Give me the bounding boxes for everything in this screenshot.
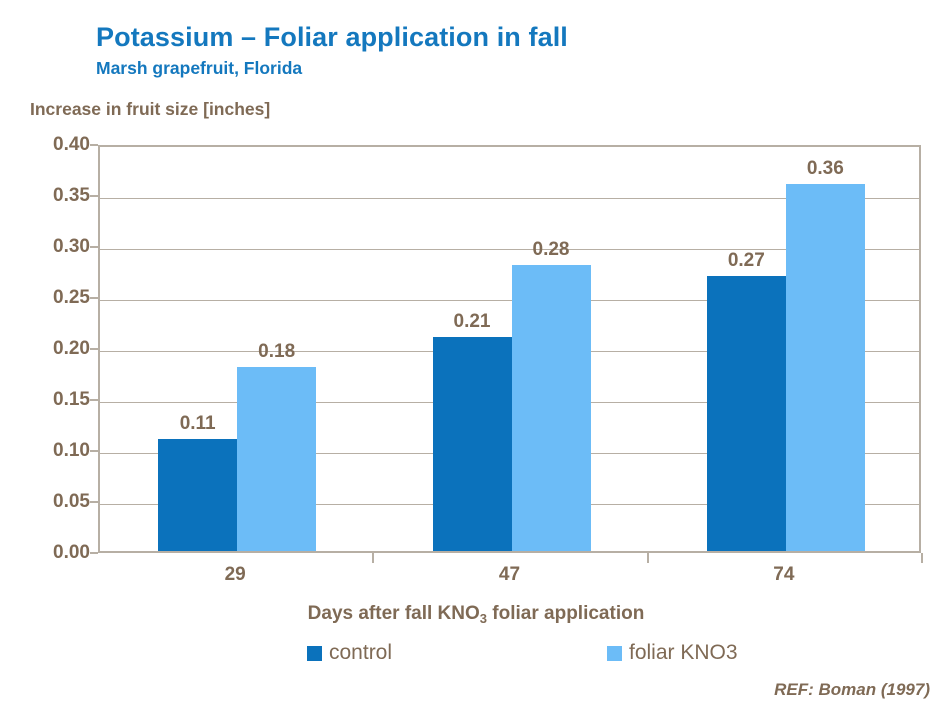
bar-value-label: 0.18 [258, 341, 295, 363]
reference-citation: REF: Boman (1997) [774, 680, 930, 700]
bar-control-74[interactable] [707, 276, 786, 551]
y-axis-tick-label: 0.05 [28, 491, 90, 513]
x-axis-tick-mark [372, 553, 374, 563]
y-axis-tick-mark [90, 195, 98, 197]
legend-label-foliar: foliar KNO3 [629, 641, 738, 665]
x-axis-tick-mark [921, 553, 923, 563]
y-axis-tick-mark [90, 297, 98, 299]
x-axis-title-after: foliar application [487, 603, 644, 624]
y-axis-tick-labels: 0.400.350.300.250.200.150.100.050.00 [22, 145, 90, 553]
legend-item-control[interactable]: control [307, 641, 392, 665]
x-axis-category-label: 47 [499, 564, 520, 586]
chart-container: Potassium – Foliar application in fall M… [0, 0, 952, 713]
y-axis-tick-mark [90, 450, 98, 452]
bar-value-label: 0.11 [180, 413, 216, 435]
y-axis-tick-mark [90, 501, 98, 503]
bar-value-label: 0.36 [807, 158, 844, 180]
legend-item-foliar[interactable]: foliar KNO3 [607, 641, 738, 665]
x-axis-tick-mark [647, 553, 649, 563]
y-axis-tick-label: 0.25 [28, 287, 90, 309]
y-axis-tick-label: 0.40 [28, 134, 90, 156]
y-axis-title: Increase in fruit size [inches] [30, 99, 270, 120]
y-axis-tick-label: 0.00 [28, 542, 90, 564]
bar-value-label: 0.27 [728, 250, 765, 272]
plot-area: 0.110.180.210.280.270.36 [98, 145, 921, 553]
chart-subtitle: Marsh grapefruit, Florida [96, 58, 302, 79]
x-axis-category-label: 74 [773, 564, 794, 586]
x-axis-title-subscript: 3 [480, 611, 487, 626]
bar-control-47[interactable] [433, 337, 512, 551]
chart-legend: control foliar KNO3 [0, 641, 952, 669]
bar-foliar-kno3-74[interactable] [786, 184, 865, 551]
bar-foliar-kno3-47[interactable] [512, 265, 591, 551]
y-axis-tick-label: 0.20 [28, 338, 90, 360]
y-axis-tick-label: 0.10 [28, 440, 90, 462]
legend-swatch-foliar-icon [607, 646, 622, 661]
y-axis-tick-mark [90, 552, 98, 554]
legend-swatch-control-icon [307, 646, 322, 661]
bar-value-label: 0.21 [454, 311, 491, 333]
bar-value-label: 0.28 [533, 239, 570, 261]
bar-foliar-kno3-29[interactable] [237, 367, 316, 551]
y-axis-tick-label: 0.15 [28, 389, 90, 411]
x-axis-category-label: 29 [225, 564, 246, 586]
y-axis-tick-label: 0.35 [28, 185, 90, 207]
y-axis-tick-mark [90, 144, 98, 146]
y-axis-tick-marks [90, 145, 98, 553]
x-axis-tick-marks [98, 553, 921, 563]
y-axis-tick-mark [90, 399, 98, 401]
chart-title: Potassium – Foliar application in fall [96, 22, 568, 53]
x-axis-title-before: Days after fall KNO [308, 603, 480, 624]
y-axis-tick-mark [90, 348, 98, 350]
y-axis-tick-mark [90, 246, 98, 248]
bar-control-29[interactable] [158, 439, 237, 551]
x-axis-title: Days after fall KNO3 foliar application [0, 603, 952, 625]
y-axis-tick-label: 0.30 [28, 236, 90, 258]
legend-label-control: control [329, 641, 392, 665]
